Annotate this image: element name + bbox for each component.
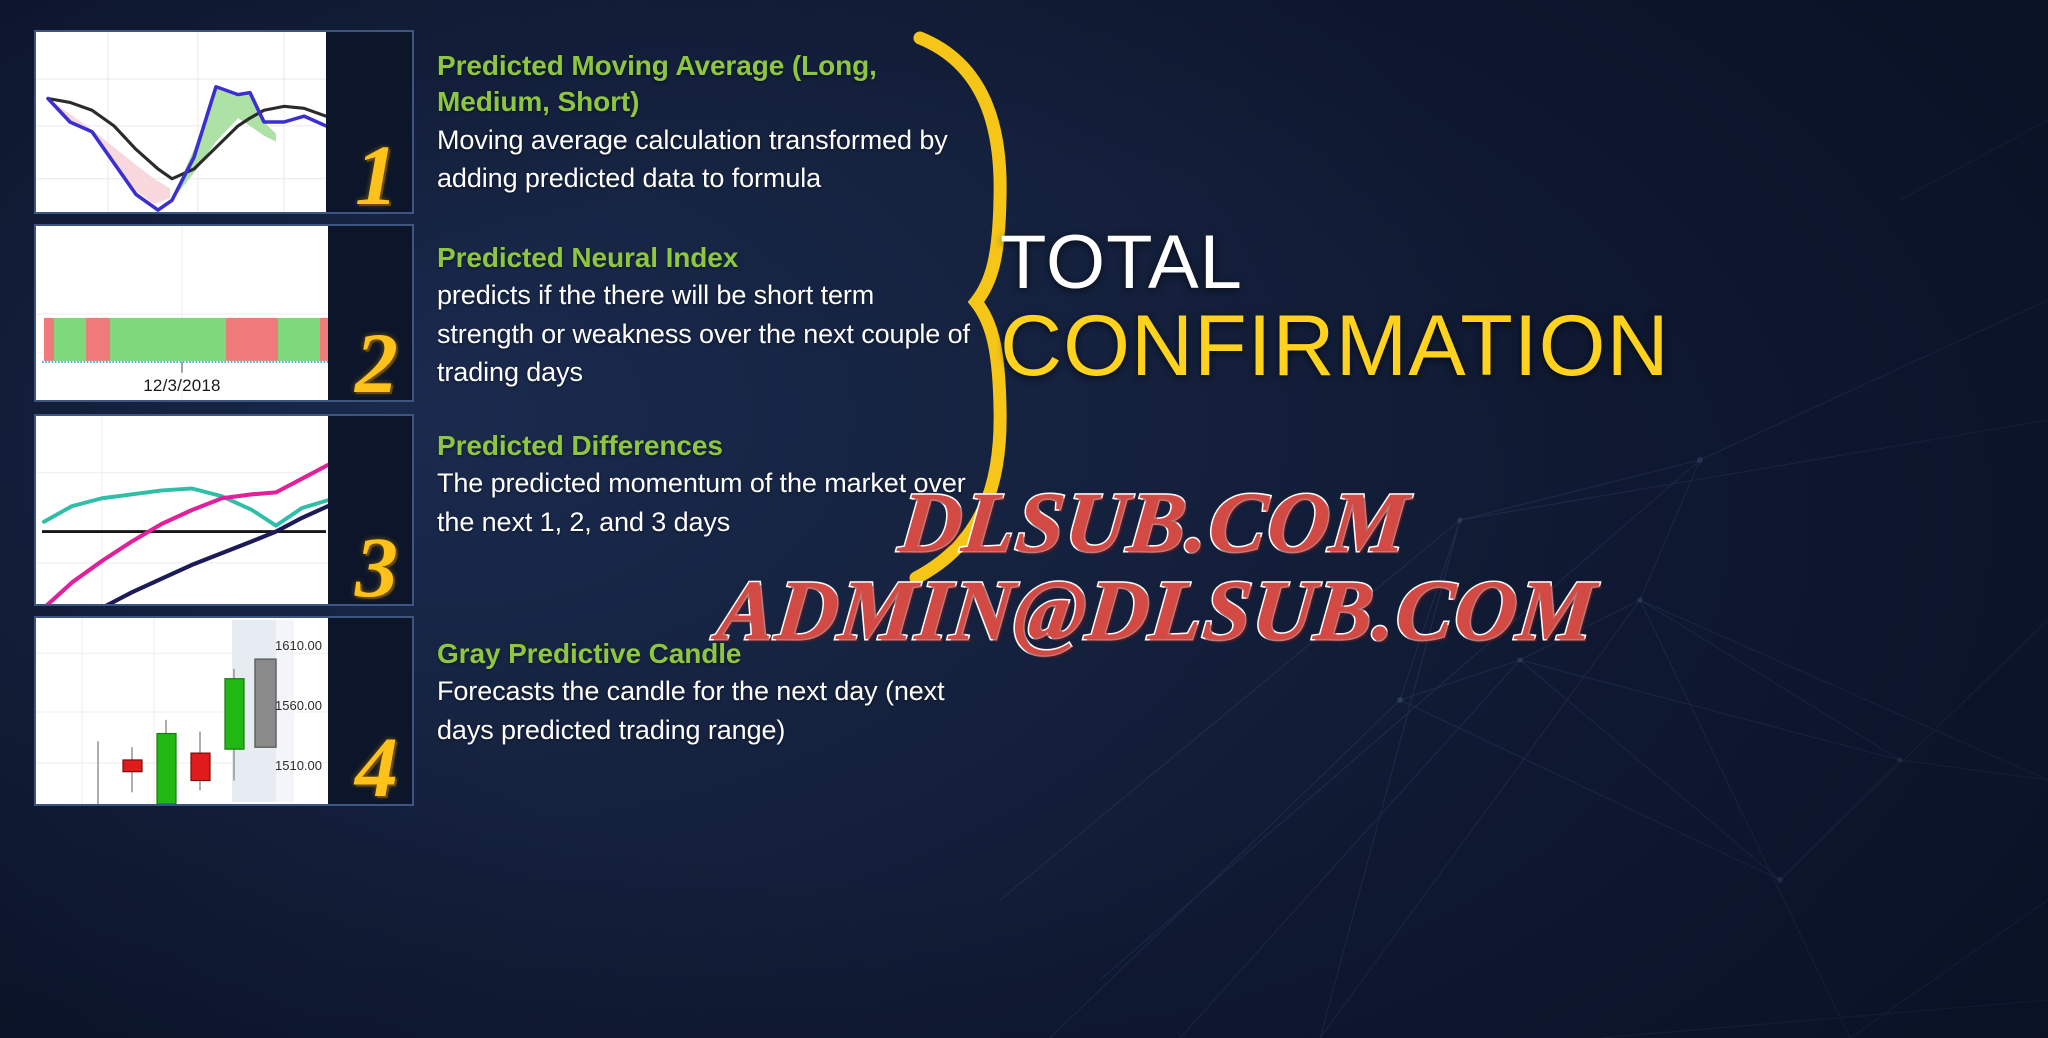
chart-x-axis-date: 12/3/2018 [36,376,328,396]
headline-line-2: CONFIRMATION [1000,298,2030,394]
watermark-site: DLSUB.COM [895,472,1414,572]
chart-predicted-differences [36,416,328,604]
feature-block-3: Predicted Differences The predicted mome… [437,428,977,541]
chart-card-gray-predictive-candle[interactable]: 1610.00 1560.00 1510.00 4 [34,616,414,806]
price-tick-1510: 1510.00 [275,758,322,773]
card-number-wrap-1: 1 [326,32,412,212]
watermark-email: ADMIN@DLSUB.COM [713,560,1601,660]
feature-body-4: Forecasts the candle for the next day (n… [437,672,977,749]
card-number-2: 2 [355,320,398,406]
feature-title-2: Predicted Neural Index [437,240,977,276]
chart-card-predicted-differences[interactable]: 3 [34,414,414,606]
card-number-wrap-3: 3 [328,416,412,604]
chart-card-predicted-moving-average[interactable]: 1 [34,30,414,214]
feature-title-1: Predicted Moving Average (Long, Medium, … [437,48,977,121]
chart-card-predicted-neural-index[interactable]: 12/3/2018 2 [34,224,414,402]
chart-predicted-neural-index: 12/3/2018 [36,226,328,400]
feature-body-2: predicts if the there will be short term… [437,276,977,391]
card-number-4: 4 [355,724,398,810]
feature-block-1: Predicted Moving Average (Long, Medium, … [437,48,977,197]
card-number-3: 3 [355,524,398,610]
chart-predicted-moving-average [36,32,326,212]
price-tick-1560: 1560.00 [275,698,322,713]
feature-body-1: Moving average calculation transformed b… [437,121,977,198]
feature-body-3: The predicted momentum of the market ove… [437,464,977,541]
feature-title-3: Predicted Differences [437,428,977,464]
chart-gray-predictive-candle: 1610.00 1560.00 1510.00 [36,618,328,804]
card-number-wrap-4: 4 [328,618,412,804]
card-number-1: 1 [355,132,398,218]
price-tick-1610: 1610.00 [275,638,322,653]
headline-total-confirmation: TOTAL CONFIRMATION [1000,228,2030,394]
feature-block-2: Predicted Neural Index predicts if the t… [437,240,977,391]
headline-line-1: TOTAL [1000,228,2030,298]
infographic-canvas: 1 [0,0,2048,1038]
card-number-wrap-2: 2 [328,226,412,400]
